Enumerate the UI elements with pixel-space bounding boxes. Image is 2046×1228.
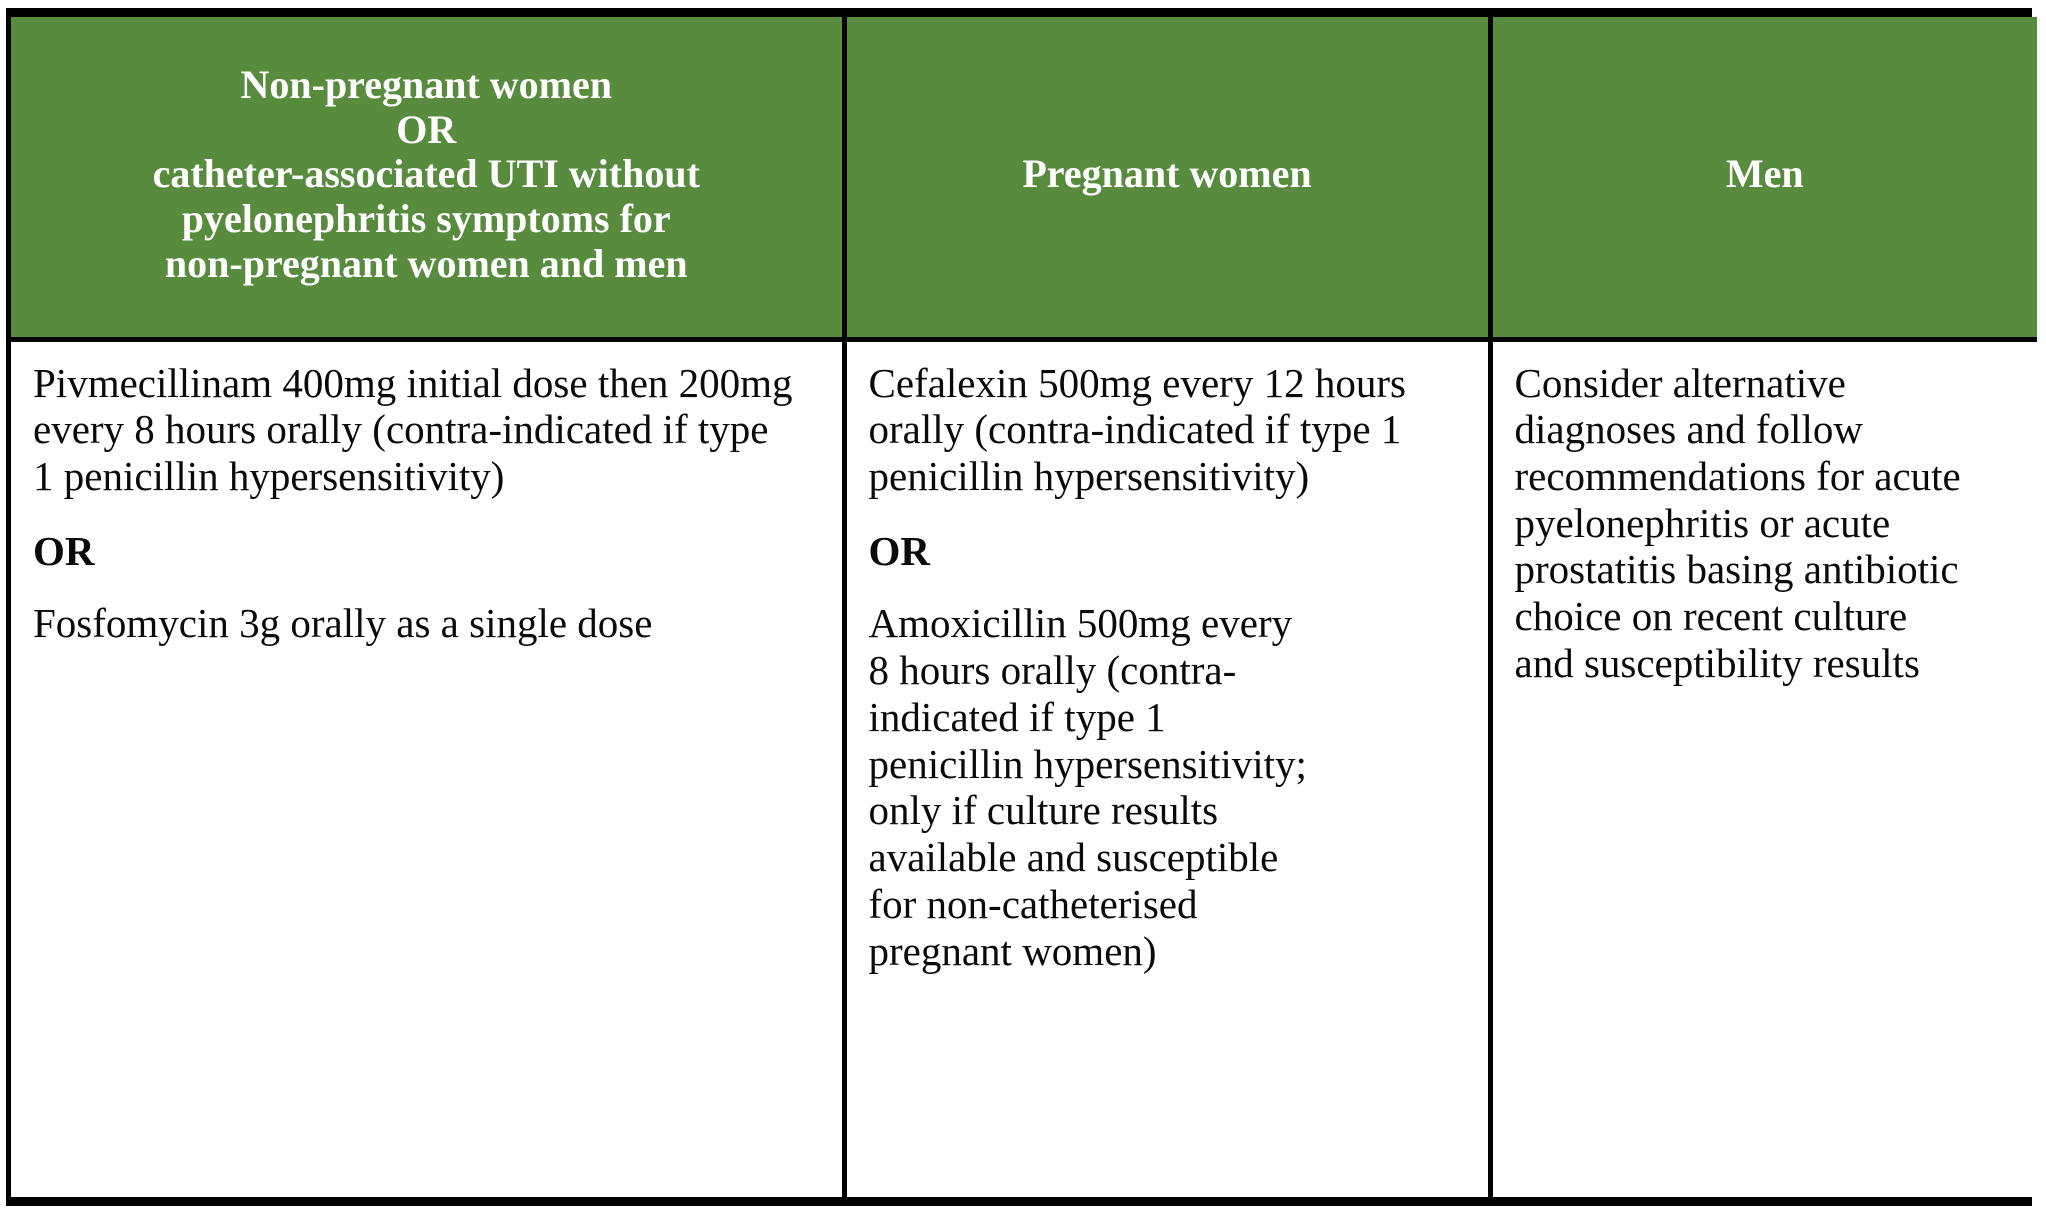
cell-non-pregnant-women: Pivmecillinam 400mg initial dose then 20… [11, 339, 844, 1197]
table-header: Non-pregnant women OR catheter-associate… [11, 17, 2037, 339]
header-line: pyelonephritis symptoms for [25, 197, 828, 242]
treatment-guidance: Consider alternative diagnoses and follo… [1515, 360, 1977, 687]
header-line: OR [25, 108, 828, 153]
treatment-option-primary: Pivmecillinam 400mg initial dose then 20… [33, 360, 793, 500]
table-row: Pivmecillinam 400mg initial dose then 20… [11, 339, 2037, 1197]
treatment-option-alternative: Fosfomycin 3g orally as a single dose [33, 600, 793, 647]
column-header-pregnant-women: Pregnant women [844, 17, 1490, 339]
antibiotic-guidance-table-container: Non-pregnant women OR catheter-associate… [6, 8, 2032, 1206]
column-header-men: Men [1490, 17, 2037, 339]
header-line: Men [1507, 152, 2024, 197]
treatment-option-primary: Cefalexin 500mg every 12 hours orally (c… [869, 360, 1457, 500]
header-line: Pregnant women [861, 152, 1474, 197]
cell-men: Consider alternative diagnoses and follo… [1490, 339, 2037, 1197]
antibiotic-guidance-table: Non-pregnant women OR catheter-associate… [11, 17, 2037, 1197]
header-line: Non-pregnant women [25, 63, 828, 108]
option-separator-or: OR [869, 528, 1468, 575]
cell-pregnant-women: Cefalexin 500mg every 12 hours orally (c… [844, 339, 1490, 1197]
treatment-option-alternative: Amoxicillin 500mg every 8 hours orally (… [869, 600, 1321, 974]
column-header-non-pregnant-women: Non-pregnant women OR catheter-associate… [11, 17, 844, 339]
header-row: Non-pregnant women OR catheter-associate… [11, 17, 2037, 339]
option-separator-or: OR [33, 528, 822, 575]
header-line: catheter-associated UTI without [25, 152, 828, 197]
header-line: non-pregnant women and men [25, 242, 828, 287]
table-body: Pivmecillinam 400mg initial dose then 20… [11, 339, 2037, 1197]
